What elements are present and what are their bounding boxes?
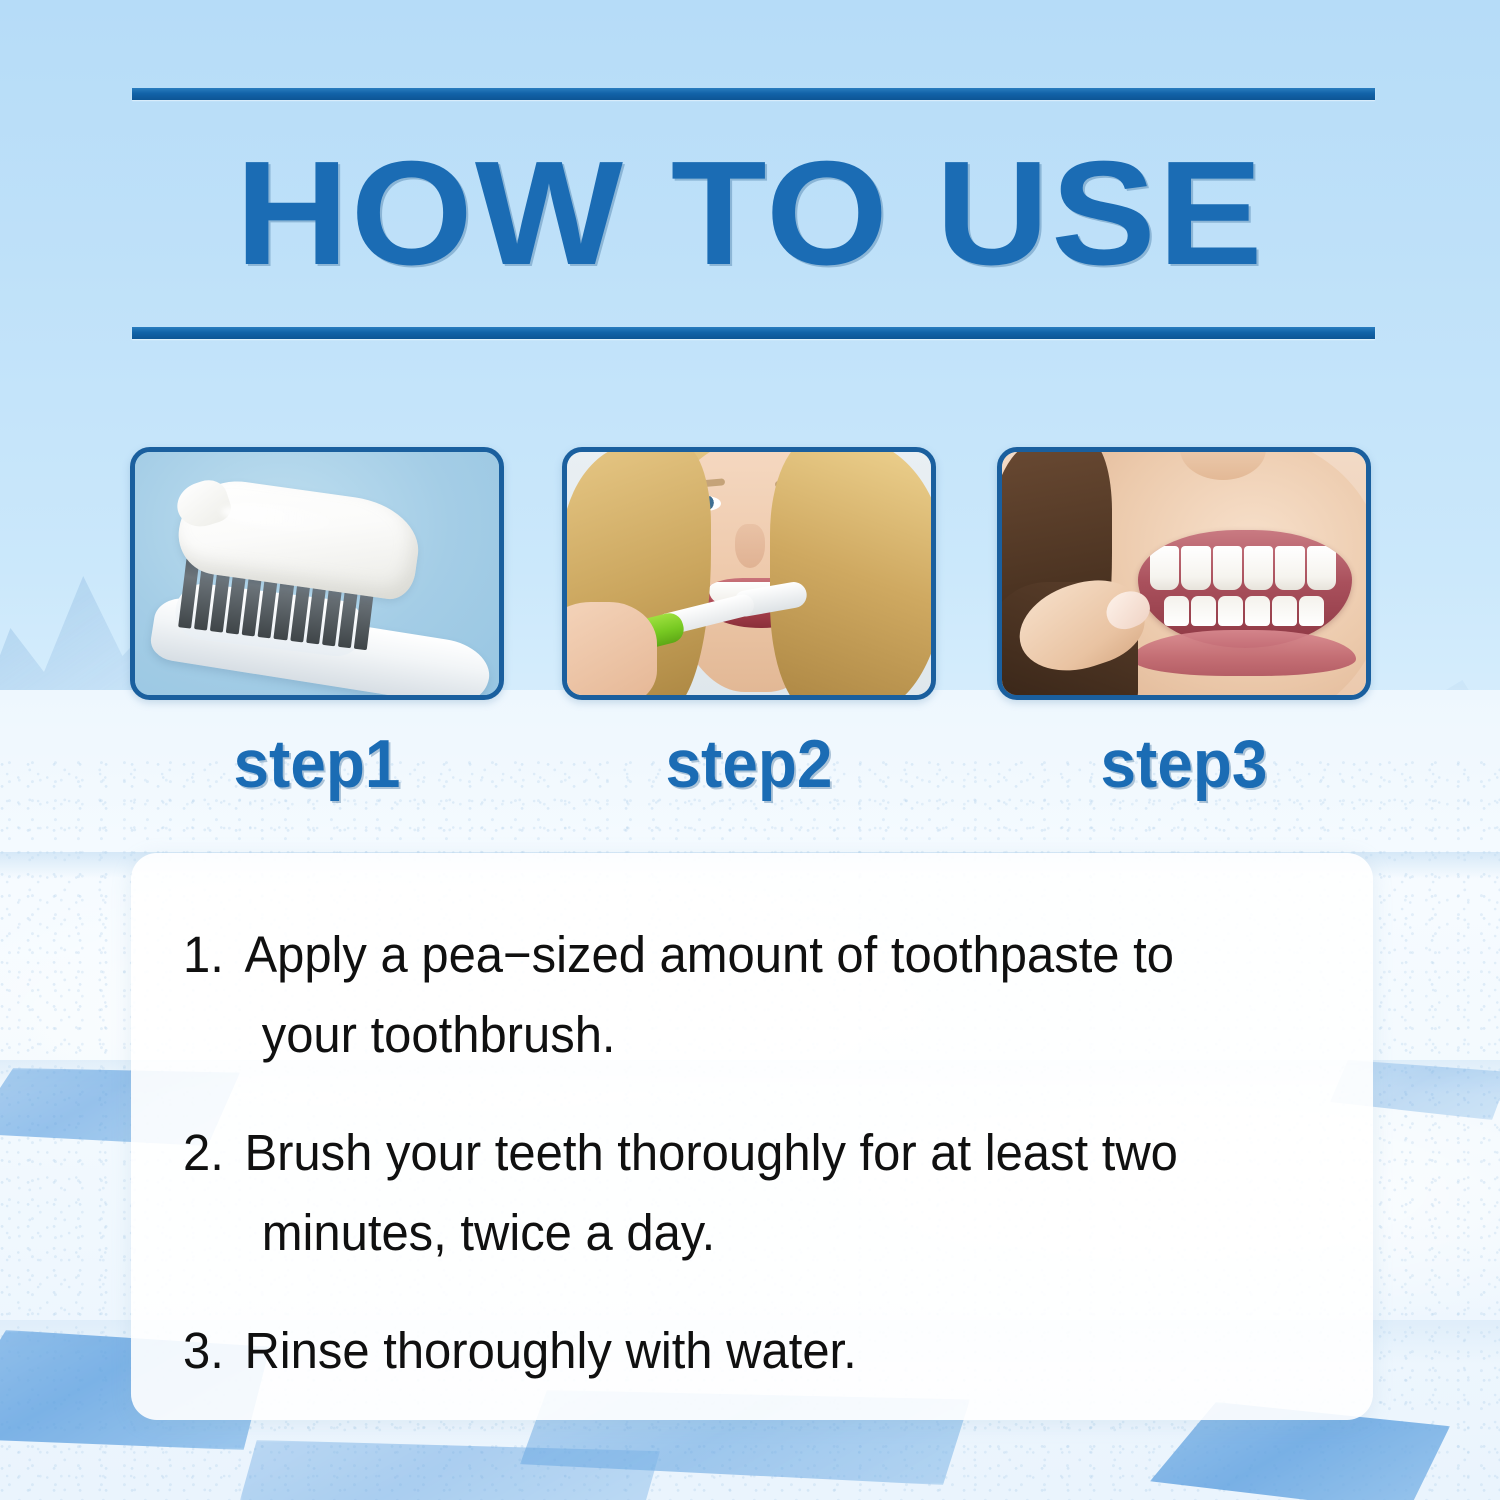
instruction-item-1: 1. Apply a pea−sized amount of toothpast… [183, 915, 1264, 1075]
step-label-2: step2 [573, 726, 925, 802]
step-label-1: step1 [141, 726, 493, 802]
toothpaste-on-toothbrush-photo [135, 452, 499, 695]
instructions-list: 1. Apply a pea−sized amount of toothpast… [183, 915, 1309, 1391]
instruction-line-2: minutes, twice a day. [244, 1193, 1233, 1273]
instruction-line-1: Apply a pea−sized amount of toothpaste t… [244, 926, 1174, 983]
instruction-number: 1. [183, 915, 244, 1075]
page-title: HOW TO USE [0, 128, 1500, 300]
step-card-2 [562, 447, 936, 700]
instruction-number: 3. [183, 1311, 244, 1391]
white-smile-closeup-photo [1002, 452, 1366, 695]
how-to-use-infographic: HOW TO USE [0, 0, 1500, 1500]
instruction-number: 2. [183, 1113, 244, 1273]
step-label-row: step1 step2 step3 [0, 726, 1500, 806]
woman-brushing-teeth-photo [567, 452, 931, 695]
header-rule-top [132, 88, 1375, 100]
step-label-3: step3 [1008, 726, 1360, 802]
instruction-line-1: Brush your teeth thoroughly for at least… [244, 1124, 1177, 1181]
instruction-line-2: your toothbrush. [244, 995, 1233, 1075]
header-rule-bottom [132, 327, 1375, 339]
instructions-panel: 1. Apply a pea−sized amount of toothpast… [131, 853, 1373, 1420]
step-card-3 [997, 447, 1371, 700]
instruction-text: Apply a pea−sized amount of toothpaste t… [244, 915, 1233, 1075]
instruction-text: Brush your teeth thoroughly for at least… [244, 1113, 1233, 1273]
instruction-item-3: 3. Rinse thoroughly with water. [183, 1311, 1264, 1391]
step-image-row [0, 447, 1500, 702]
instruction-text: Rinse thoroughly with water. [244, 1311, 1233, 1391]
step-card-1 [130, 447, 504, 700]
instruction-line-1: Rinse thoroughly with water. [244, 1322, 856, 1379]
instruction-item-2: 2. Brush your teeth thoroughly for at le… [183, 1113, 1264, 1273]
